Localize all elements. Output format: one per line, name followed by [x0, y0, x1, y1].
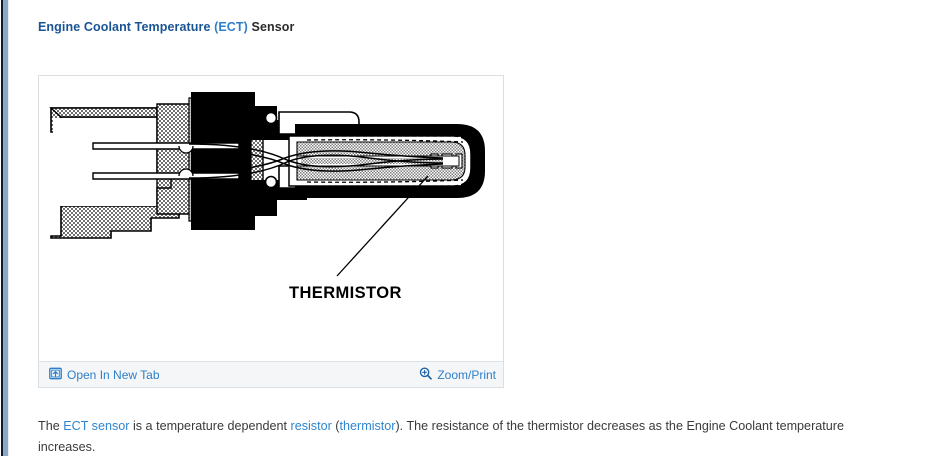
body-link-3[interactable]: resistor — [291, 419, 332, 433]
page-title-main: Engine Coolant Temperature — [38, 20, 214, 34]
body-text-2: is a temperature dependent — [129, 419, 290, 433]
ect-sensor-cross-section-diagram: THERMISTOR — [39, 76, 503, 361]
body-link-5[interactable]: thermistor — [340, 419, 396, 433]
thermistor-label: THERMISTOR — [289, 284, 402, 302]
content-area: Engine Coolant Temperature (ECT) Sensor — [38, 0, 908, 35]
body-text-4: ( — [332, 419, 340, 433]
figure-toolbar: Open In New Tab Zoom/Print — [39, 361, 503, 387]
page-title: Engine Coolant Temperature (ECT) Sensor — [38, 0, 908, 35]
open-in-new-tab-button[interactable]: Open In New Tab — [49, 367, 160, 383]
figure-image-area[interactable]: THERMISTOR — [39, 76, 503, 361]
zoom-print-label: Zoom/Print — [437, 368, 496, 382]
page-left-rail — [0, 0, 9, 456]
zoom-print-button[interactable]: Zoom/Print — [419, 367, 496, 383]
magnifier-plus-icon — [419, 367, 432, 383]
body-text-0: The — [38, 419, 63, 433]
figure-card: THERMISTOR Open In New Tab — [38, 75, 504, 388]
page-title-abbreviation: (ECT) — [214, 20, 248, 34]
body-link-1[interactable]: ECT sensor — [63, 419, 129, 433]
open-in-new-tab-icon — [49, 367, 62, 383]
body-paragraph: The ECT sensor is a temperature dependen… — [38, 416, 870, 458]
open-in-new-tab-label: Open In New Tab — [67, 368, 160, 382]
page-title-suffix: Sensor — [248, 20, 295, 34]
rail-inner-edge — [8, 0, 9, 456]
